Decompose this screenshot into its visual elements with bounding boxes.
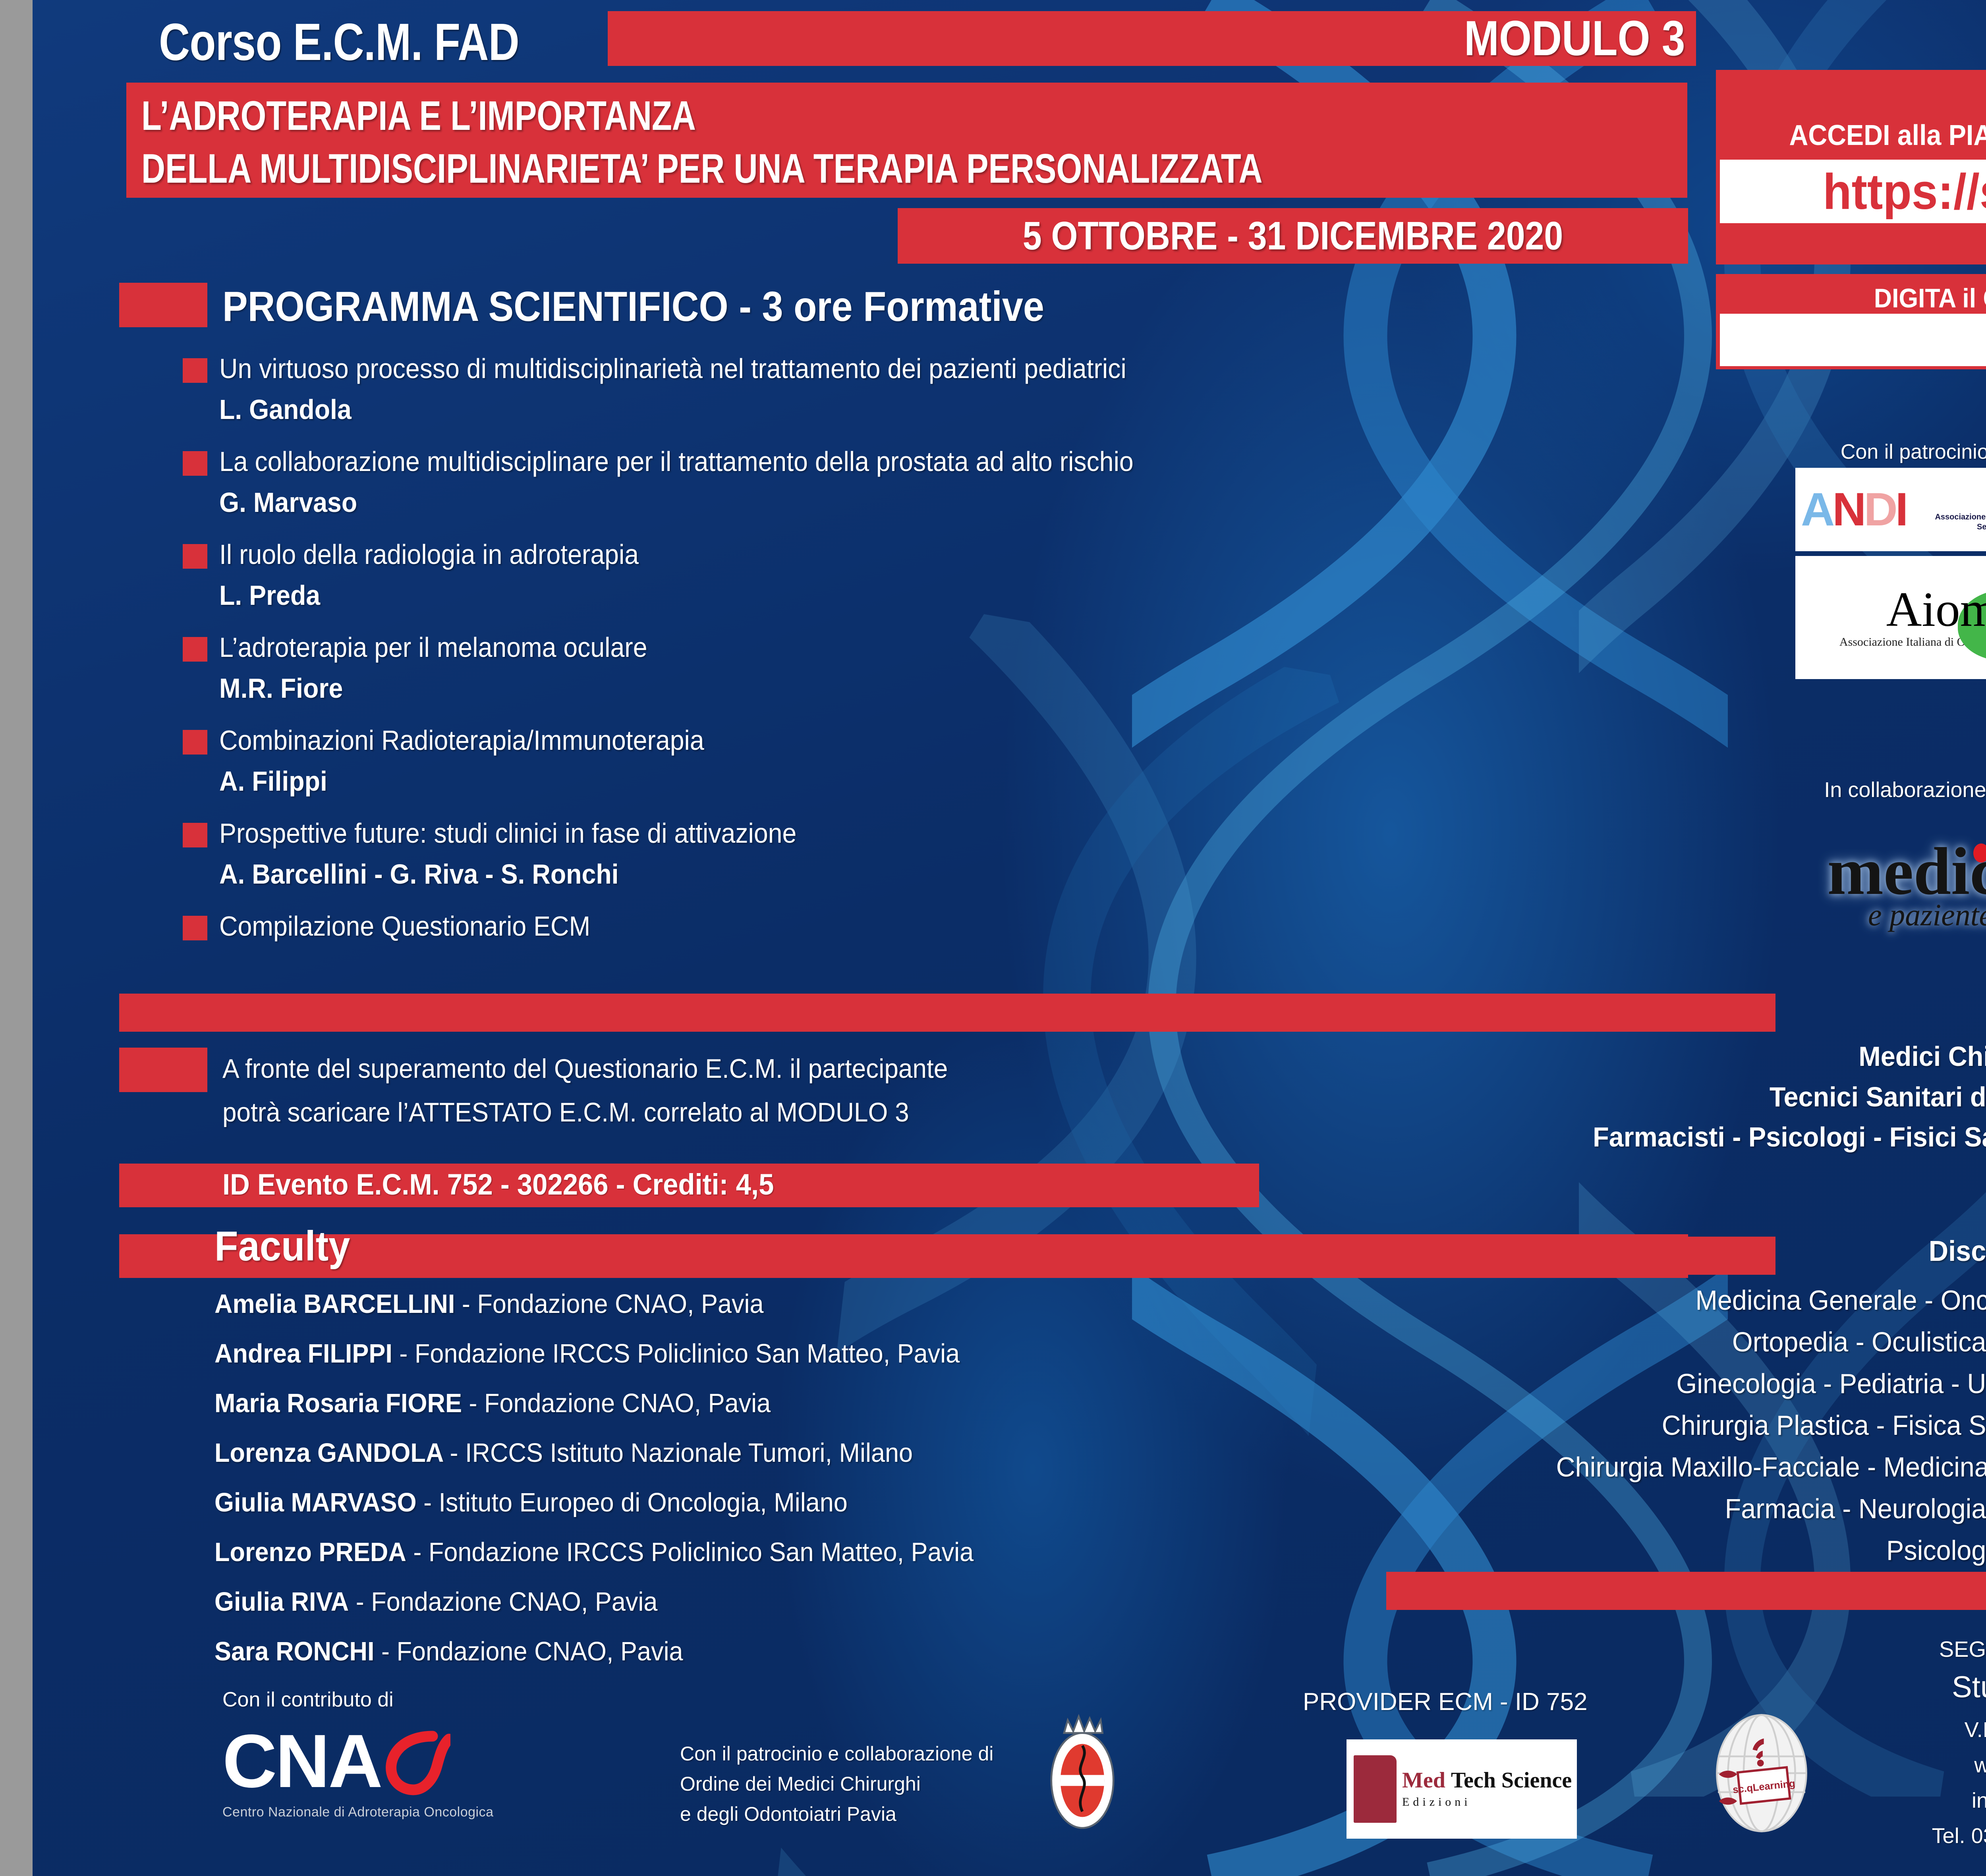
medtech-wordmark: Med Tech Science Edizioni xyxy=(1402,1769,1572,1809)
faculty-affiliation: - Fondazione CNAO, Pavia xyxy=(455,1289,763,1319)
medtech-tech-text: Tech Science xyxy=(1451,1768,1572,1793)
discipline-line: Ortopedia - Oculistica - Otorinolaringoi… xyxy=(1257,1321,1986,1363)
segreteria-email[interactable]: info@studio-congressi.com xyxy=(1835,1783,1986,1818)
programme-item-speaker: M.R. Fiore xyxy=(219,673,1457,704)
programme-item-speaker: L. Gandola xyxy=(219,394,1457,425)
faculty-name: Lorenza GANDOLA xyxy=(214,1438,450,1468)
segreteria-title: SEGRETERIA ORGANIZZATIVA xyxy=(1835,1636,1986,1662)
bullet-square-icon xyxy=(183,544,207,569)
discipline-line: Chirurgia Maxillo-Facciale - Medicina fi… xyxy=(1257,1446,1986,1488)
attestato-marker xyxy=(119,1048,207,1092)
attestato-line-1: A fronte del superamento del Questionari… xyxy=(222,1047,1193,1090)
platform-access-label: ACCEDI alla PIATTAFORMA e REGISTRATI: xyxy=(1743,119,1986,152)
programme-item-topic: Il ruolo della radiologia in adroterapia xyxy=(219,539,1457,570)
programme-item: Il ruolo della radiologia in adroterapia… xyxy=(175,539,1565,611)
medtech-science-logo: Med Tech Science Edizioni xyxy=(1347,1739,1577,1839)
cnao-logo-letters: CNA xyxy=(222,1724,494,1799)
course-poster: CNAO Corso E.C.M. FAD MODULO 3 L’ADROTER… xyxy=(0,0,1986,1876)
aiom-logo: Aiom Associazione Italiana di Oncologia … xyxy=(1795,556,1986,679)
section-divider-bar-bottom xyxy=(1386,1572,1986,1610)
faculty-affiliation: - Fondazione IRCCS Policlinico San Matte… xyxy=(392,1339,960,1368)
discipline-line: Psicologia - Medicina Nucleare xyxy=(1257,1530,1986,1571)
faculty-name: Andrea FILIPPI xyxy=(214,1339,392,1368)
programme-item-topic: Un virtuoso processo di multidisciplinar… xyxy=(219,353,1457,384)
bullet-square-icon xyxy=(183,730,207,755)
faculty-row: Lorenzo PREDA - Fondazione IRCCS Policli… xyxy=(214,1539,1335,1565)
course-title-line-1: L’ADROTERAPIA E L’IMPORTANZA xyxy=(141,90,1378,143)
date-range-block: 5 OTTOBRE - 31 DICEMBRE 2020 xyxy=(898,208,1688,264)
date-range-label: 5 OTTOBRE - 31 DICEMBRE 2020 xyxy=(1023,213,1563,259)
aiom-wordmark: Aiom xyxy=(1886,586,1986,633)
programme-item: Prospettive future: studi clinici in fas… xyxy=(175,818,1565,890)
figure-professionali-heading: Figure Professionali: xyxy=(1528,993,1986,1025)
module-badge-label: MODULO 3 xyxy=(1464,10,1685,67)
provider-ecm-label: PROVIDER ECM - ID 752 xyxy=(1303,1688,1588,1716)
ordine-line-3: e degli Odontoiatri Pavia xyxy=(680,1799,993,1829)
ordine-patrocinio-text: Con il patrocinio e collaborazione di Or… xyxy=(680,1739,993,1829)
bullet-square-icon xyxy=(183,451,207,476)
discipline-line: Ginecologia - Pediatria - Urologia - Odo… xyxy=(1257,1363,1986,1405)
platform-url-text[interactable]: https://sc.qlearning.it xyxy=(1823,163,1986,220)
book-icon xyxy=(1354,1755,1397,1823)
collaborazione-label: In collaborazione con: xyxy=(1740,778,1986,802)
faculty-name: Lorenzo PREDA xyxy=(214,1537,406,1567)
faculty-row: Maria Rosaria FIORE - Fondazione CNAO, P… xyxy=(214,1390,1335,1417)
faculty-row: Lorenza GANDOLA - IRCCS Istituto Naziona… xyxy=(214,1440,1335,1466)
andi-letter-d: D xyxy=(1864,483,1895,536)
faculty-affiliation: - IRCCS Istituto Nazionale Tumori, Milan… xyxy=(450,1438,913,1468)
andi-subtitle: Associazione Nazionale Dentisti Italiani… xyxy=(1935,487,1986,532)
event-id-label: ID Evento E.C.M. 752 - 302266 - Crediti:… xyxy=(222,1168,774,1201)
andi-letter-n: N xyxy=(1832,483,1864,536)
segreteria-organizzativa: SEGRETERIA ORGANIZZATIVA Studio Congress… xyxy=(1835,1636,1986,1854)
attestato-line-2: potrà scaricare l’ATTESTATO E.C.M. corre… xyxy=(222,1090,1193,1134)
discipline-list: Medicina Generale - Oncologia - Radioter… xyxy=(1204,1280,1986,1571)
segreteria-phone: Tel. 0382 21424 - Fax 0382 303082 xyxy=(1835,1818,1986,1854)
discipline-line: Farmacia - Neurologia - Chirurgia Genera… xyxy=(1257,1488,1986,1530)
faculty-affiliation: - Fondazione CNAO, Pavia xyxy=(374,1637,683,1666)
bullet-square-icon xyxy=(183,823,207,847)
programme-list: Un virtuoso processo di multidisciplinar… xyxy=(175,353,1565,963)
andi-letter-i: I xyxy=(1895,483,1906,536)
faculty-row: Amelia BARCELLINI - Fondazione CNAO, Pav… xyxy=(214,1291,1335,1317)
faculty-affiliation: - Fondazione CNAO, Pavia xyxy=(462,1388,771,1418)
aiom-word-text: Aiom xyxy=(1886,582,1986,637)
programme-item-speaker: A. Barcellini - G. Riva - S. Ronchi xyxy=(219,859,1457,890)
medtech-edizioni-text: Edizioni xyxy=(1402,1795,1572,1809)
faculty-name: Sara RONCHI xyxy=(214,1637,374,1666)
programme-item: L’adroterapia per il melanoma oculare M.… xyxy=(175,632,1565,704)
contributo-label: Con il contributo di xyxy=(222,1688,394,1712)
medico-wordmark: medico xyxy=(1827,841,1986,902)
segreteria-address: V.Le della Libertà, 17 - Pavia xyxy=(1835,1712,1986,1748)
programme-item-topic: La collaborazione multidisciplinare per … xyxy=(219,446,1457,477)
faculty-name: Giulia MARVASO xyxy=(214,1488,423,1517)
access-code-input[interactable] xyxy=(1720,314,1986,366)
figure-professionali-line: Medici Chirurghi - Odontoiatri - xyxy=(1408,1036,1986,1077)
andi-subtitle-line-2: Sezione Provinciale di Pavia xyxy=(1935,522,1986,532)
programme-item-speaker: L. Preda xyxy=(219,580,1457,611)
programme-item: Combinazioni Radioterapia/Immunoterapia … xyxy=(175,725,1565,797)
course-kicker: Corso E.C.M. FAD xyxy=(159,12,519,72)
faculty-name: Amelia BARCELLINI xyxy=(214,1289,455,1319)
course-title-line-2: DELLA MULTIDISCIPLINARIETA’ PER UNA TERA… xyxy=(141,143,1378,195)
programme-item-speaker: A. Filippi xyxy=(219,766,1457,797)
andi-acronym: ANDI xyxy=(1801,486,1906,533)
bullet-square-icon xyxy=(183,637,207,662)
programme-item-speaker: G. Marvaso xyxy=(219,487,1457,518)
faculty-heading: Faculty xyxy=(214,1222,350,1270)
cnao-alpha-icon xyxy=(379,1724,450,1799)
programme-item: Compilazione Questionario ECM xyxy=(175,911,1565,942)
bullet-square-icon xyxy=(183,916,207,940)
faculty-name: Maria Rosaria FIORE xyxy=(214,1388,462,1418)
figure-professionali-line: Tecnici Sanitari di Radiologia Medica - xyxy=(1408,1077,1986,1117)
figure-professionali-list: Medici Chirurghi - Odontoiatri - Tecnici… xyxy=(1363,1036,1986,1158)
faculty-row: Giulia RIVA - Fondazione CNAO, Pavia xyxy=(214,1588,1335,1615)
bullet-square-icon xyxy=(183,358,207,383)
ordine-medici-seal-icon xyxy=(1037,1708,1128,1839)
medtech-line-1: Med Tech Science xyxy=(1402,1769,1572,1791)
medico-word-text: medico xyxy=(1827,834,1986,909)
faculty-name: Giulia RIVA xyxy=(214,1587,349,1617)
medtech-med-text: Med xyxy=(1402,1768,1445,1793)
course-title-block: L’ADROTERAPIA E L’IMPORTANZA DELLA MULTI… xyxy=(126,83,1687,198)
faculty-affiliation: - Istituto Europeo di Oncologia, Milano xyxy=(423,1488,848,1517)
cnao-logo-subtitle: Centro Nazionale di Adroterapia Oncologi… xyxy=(222,1805,494,1820)
segreteria-website[interactable]: www.studio-congressi.com xyxy=(1835,1748,1986,1783)
ordine-line-1: Con il patrocinio e collaborazione di xyxy=(680,1739,993,1769)
andi-logo: ANDI Associazione Nazionale Dentisti Ita… xyxy=(1795,468,1986,551)
programme-item: La collaborazione multidisciplinare per … xyxy=(175,446,1565,518)
segreteria-company-name: Studio Congressi S.r.l. xyxy=(1835,1670,1986,1704)
programme-heading-marker xyxy=(119,283,207,327)
programme-item-topic: Compilazione Questionario ECM xyxy=(219,911,1457,942)
discipline-heading: Discipline di Riferimento: xyxy=(1528,1235,1986,1268)
platform-url-field[interactable]: https://sc.qlearning.it xyxy=(1720,160,1986,223)
cnao-logo-text: CNA xyxy=(222,1724,381,1799)
programme-heading: PROGRAMMA SCIENTIFICO - 3 ore Formative xyxy=(222,283,1044,331)
ordine-line-2: Ordine dei Medici Chirurghi xyxy=(680,1769,993,1799)
cnao-logo: CNA Centro Nazionale di Adroterapia Onco… xyxy=(222,1724,494,1820)
attestato-text: A fronte del superamento del Questionari… xyxy=(222,1047,1255,1134)
faculty-affiliation: - Fondazione CNAO, Pavia xyxy=(349,1587,657,1617)
figure-professionali-line: Farmacisti - Psicologi - Fisici Sanitari… xyxy=(1408,1117,1986,1158)
medico-e-paziente-logo: medico e paziente xyxy=(1760,826,1986,945)
programme-item-topic: Combinazioni Radioterapia/Immunoterapia xyxy=(219,725,1457,756)
faculty-affiliation: - Fondazione IRCCS Policlinico San Matte… xyxy=(406,1537,974,1567)
faculty-row: Sara RONCHI - Fondazione CNAO, Pavia xyxy=(214,1638,1335,1665)
faculty-heading-bar xyxy=(119,1234,1688,1278)
sc-qlearning-globe-icon: sc.qLearning xyxy=(1704,1712,1819,1835)
faculty-row: Andrea FILIPPI - Fondazione IRCCS Policl… xyxy=(214,1340,1335,1367)
medico-red-dot-icon xyxy=(1973,843,1986,863)
access-code-label: DIGITA il CODICE di ACCESSO: xyxy=(1743,283,1986,314)
left-gray-margin xyxy=(0,0,33,1876)
andi-subtitle-line-1: Associazione Nazionale Dentisti Italiani xyxy=(1935,512,1986,522)
section-divider-bar xyxy=(119,994,1775,1032)
andi-letter-a: A xyxy=(1801,483,1832,536)
discipline-line: Chirurgia Plastica - Fisica Sanitaria - … xyxy=(1257,1405,1986,1446)
faculty-row: Giulia MARVASO - Istituto Europeo di Onc… xyxy=(214,1489,1335,1516)
programme-item-topic: Prospettive future: studi clinici in fas… xyxy=(219,818,1457,849)
patrocinio-label: Con il patrocinio di: xyxy=(1740,440,1986,464)
programme-item: Un virtuoso processo di multidisciplinar… xyxy=(175,353,1565,425)
discipline-line: Medicina Generale - Oncologia - Radioter… xyxy=(1257,1280,1986,1321)
module-badge: MODULO 3 xyxy=(608,11,1696,66)
programme-item-topic: L’adroterapia per il melanoma oculare xyxy=(219,632,1457,663)
